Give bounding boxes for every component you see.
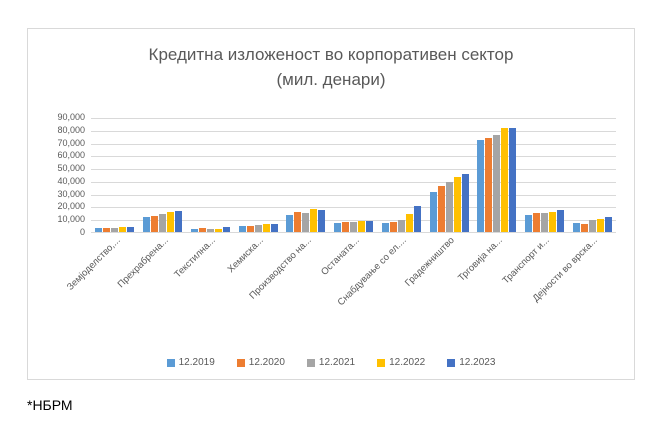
y-axis-tick: 0 <box>28 227 85 237</box>
legend-label: 12.2023 <box>459 357 495 369</box>
y-axis-tick: 90,000 <box>28 112 85 122</box>
chart-title-line-1: Кредитна изложеност во корпоративен сект… <box>28 42 634 67</box>
x-axis-label-text: Трговија на... <box>456 235 505 284</box>
legend-swatch-icon <box>447 359 455 367</box>
bar[interactable] <box>541 213 548 233</box>
bar[interactable] <box>302 213 309 233</box>
plot-area: 90,00080,00070,00060,00050,00040,00030,0… <box>91 118 616 233</box>
chart-title: Кредитна изложеност во корпоративен сект… <box>28 42 634 92</box>
chart-container: Кредитна изложеност во корпоративен сект… <box>27 28 635 380</box>
legend-item[interactable]: 12.2019 <box>167 357 215 369</box>
x-axis-label-text: Текстилна... <box>173 235 218 280</box>
x-axis-label-text: Градежништво <box>403 235 457 289</box>
legend-label: 12.2020 <box>249 357 285 369</box>
y-axis-tick: 70,000 <box>28 138 85 148</box>
x-axis-label-text: Земјоделство,... <box>65 235 123 293</box>
bar[interactable] <box>151 216 158 233</box>
y-axis-tick: 30,000 <box>28 189 85 199</box>
legend-label: 12.2019 <box>179 357 215 369</box>
x-axis-label-text: Останата... <box>319 235 362 278</box>
legend-item[interactable]: 12.2021 <box>307 357 355 369</box>
y-axis-tick: 50,000 <box>28 163 85 173</box>
y-axis-tick: 20,000 <box>28 201 85 211</box>
chart-title-line-2: (мил. денари) <box>28 67 634 92</box>
chart-legend: 12.201912.202012.202112.202212.2023 <box>28 357 634 369</box>
x-axis-label-text: Транспорт и... <box>501 235 552 286</box>
y-axis-tick: 60,000 <box>28 150 85 160</box>
bar-group <box>91 118 139 233</box>
bar-groups <box>91 118 616 233</box>
legend-label: 12.2022 <box>389 357 425 369</box>
bar[interactable] <box>485 138 492 233</box>
y-axis-tick: 80,000 <box>28 125 85 135</box>
legend-item[interactable]: 12.2023 <box>447 357 495 369</box>
footnote-source: *НБРМ <box>27 396 73 414</box>
bar[interactable] <box>294 212 301 233</box>
bar[interactable] <box>501 128 508 233</box>
y-axis: 90,00080,00070,00060,00050,00040,00030,0… <box>28 112 85 239</box>
bar[interactable] <box>159 214 166 233</box>
legend-swatch-icon <box>237 359 245 367</box>
y-axis-tick: 40,000 <box>28 176 85 186</box>
legend-item[interactable]: 12.2022 <box>377 357 425 369</box>
legend-label: 12.2021 <box>319 357 355 369</box>
legend-swatch-icon <box>307 359 315 367</box>
y-axis-tick: 10,000 <box>28 214 85 224</box>
legend-swatch-icon <box>167 359 175 367</box>
bar[interactable] <box>533 213 540 233</box>
bar[interactable] <box>493 135 500 233</box>
x-axis-label-text: Прехрабрена... <box>115 235 170 290</box>
x-axis-labels: Земјоделство,...Прехрабрена...Текстилна.… <box>91 235 616 335</box>
legend-swatch-icon <box>377 359 385 367</box>
legend-item[interactable]: 12.2020 <box>237 357 285 369</box>
x-axis-label-text: Хемиска... <box>226 235 266 275</box>
